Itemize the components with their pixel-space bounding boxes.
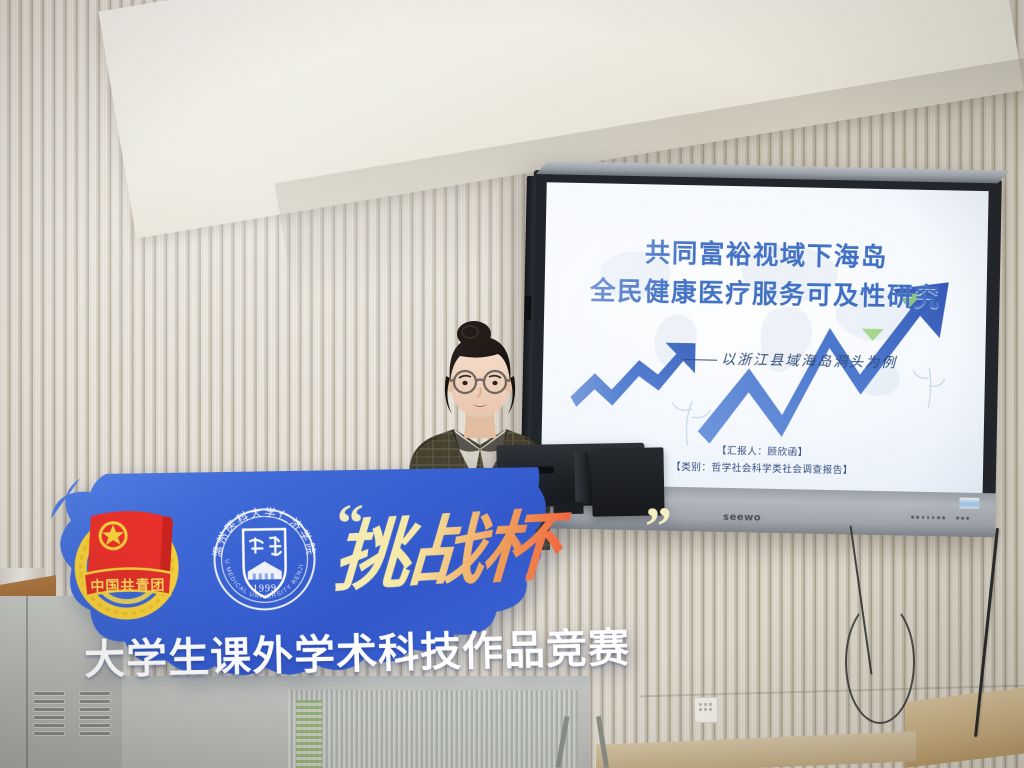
subtitle-dash-icon bbox=[683, 359, 717, 361]
cable-loop bbox=[845, 600, 915, 724]
cabinet-vent bbox=[80, 724, 110, 727]
display-brand-label: seewo bbox=[723, 512, 761, 524]
communist-youth-league-emblem-icon: 中国共青团 bbox=[63, 495, 191, 623]
cabinet-vent bbox=[34, 724, 64, 727]
display-control-buttons[interactable] bbox=[911, 516, 969, 520]
presenter-head bbox=[445, 321, 515, 418]
display-side-port bbox=[524, 296, 531, 320]
podium-green-strip bbox=[296, 700, 322, 768]
svg-text:中国共青团: 中国共青团 bbox=[90, 577, 165, 595]
cabinet-vent bbox=[80, 732, 110, 735]
university-emblem-icon: 温州医科大学仁济学院 WENZHOU MEDICAL UNIVERSITY RE… bbox=[200, 492, 328, 620]
slide-title-line-1: 共同富裕视域下海岛 bbox=[645, 239, 889, 272]
screenshot-scene: 共同富裕视域下海岛 全民健康医疗服务可及性研究 以浙江县域海岛洞头为例 【汇报人… bbox=[0, 0, 1024, 768]
event-banner: 中国共青团 温州医科大学仁济学院 WENZHOU MEDICAL UNIVERS… bbox=[14, 465, 694, 714]
wall-socket bbox=[694, 697, 718, 723]
display-energy-sticker bbox=[959, 498, 979, 509]
slide-title: 共同富裕视域下海岛 全民健康医疗服务可及性研究 bbox=[544, 232, 987, 318]
cabinet-vent bbox=[80, 716, 110, 719]
svg-text:温州医科大学仁济学院: 温州医科大学仁济学院 bbox=[209, 504, 318, 559]
slide-subtitle-text: 以浙江县域海岛洞头为例 bbox=[721, 352, 897, 371]
cabinet-vent bbox=[34, 716, 64, 719]
cabinet-vent bbox=[34, 732, 64, 735]
svg-text:1999: 1999 bbox=[253, 583, 277, 594]
